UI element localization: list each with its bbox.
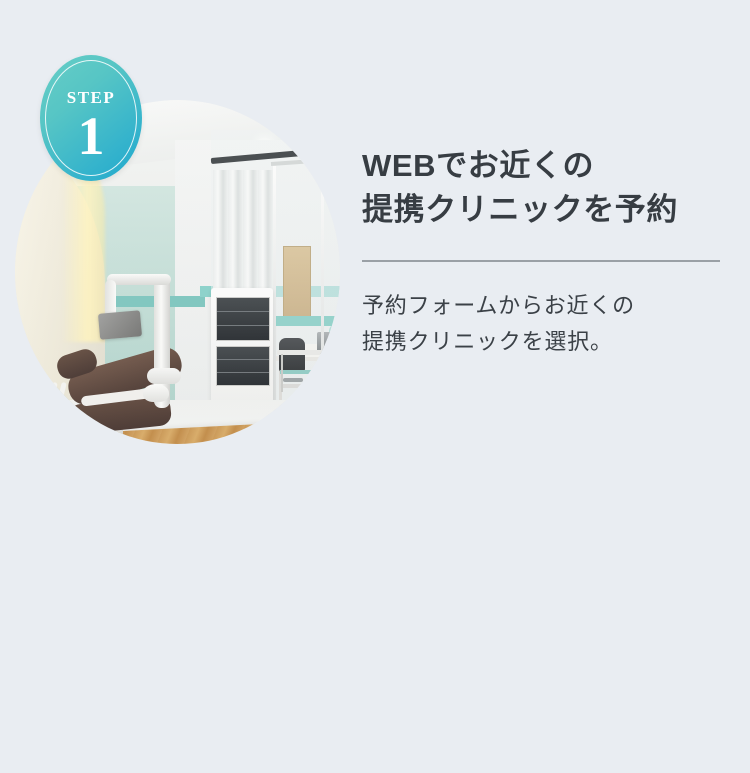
step-headline: WEBでお近くの 提携クリニックを予約 xyxy=(362,144,722,232)
office-door xyxy=(283,246,311,322)
step-description: 予約フォームからお近くの 提携クリニックを選択。 xyxy=(362,262,722,359)
cabinet-shelf xyxy=(217,359,269,360)
treatment-monitor xyxy=(98,310,142,340)
step-text-column: WEBでお近くの 提携クリニックを予約 予約フォームからお近くの 提携クリニック… xyxy=(362,144,722,359)
instrument-tray xyxy=(147,368,181,384)
step-badge: STEP 1 xyxy=(40,55,142,181)
trolley-top xyxy=(277,350,333,355)
trolley-leg xyxy=(281,354,283,392)
step-badge-label: STEP xyxy=(40,88,142,108)
step-section: STEP 1 WEBでお近くの 提携クリニックを予約 予約フォームからお近くの … xyxy=(0,0,750,470)
instrument-trolley xyxy=(277,350,333,396)
cabinet-shelf xyxy=(217,372,269,373)
instrument-cabinet xyxy=(211,288,273,406)
cabinet-glass-door xyxy=(216,297,270,341)
spittoon-bowl xyxy=(143,384,169,402)
glass-frame-mullion xyxy=(273,166,276,436)
equipment-arm-horizontal xyxy=(107,274,171,285)
office-accent-stripe xyxy=(273,316,340,326)
handpiece-tubes xyxy=(31,382,71,416)
cabinet-shelf xyxy=(217,311,269,312)
step-badge-number: 1 xyxy=(40,108,142,164)
trolley-shelf xyxy=(280,370,330,374)
cabinet-glass-door xyxy=(216,346,270,386)
cabinet-shelf xyxy=(217,325,269,326)
trolley-shelf xyxy=(280,384,330,388)
trolley-leg xyxy=(327,354,329,392)
